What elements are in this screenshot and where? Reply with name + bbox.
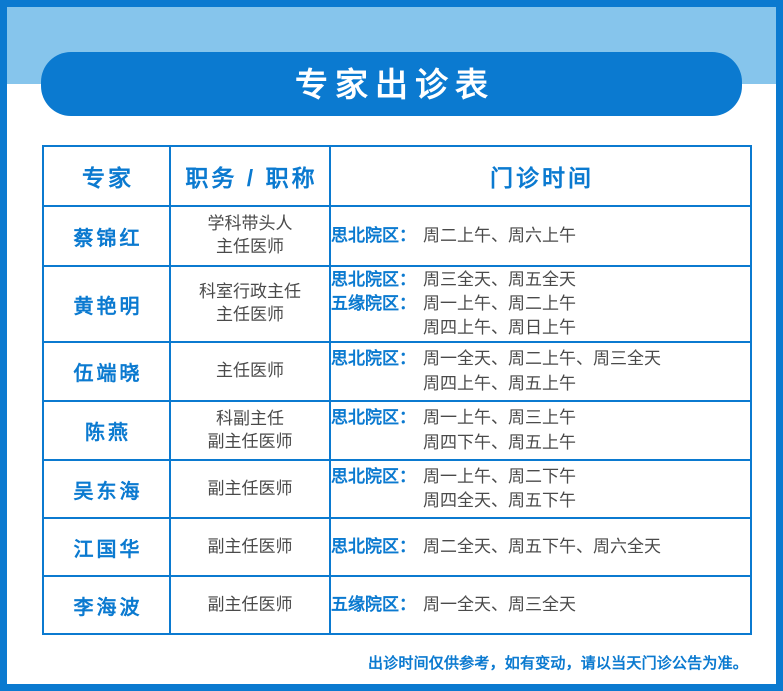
expert-position: 副主任医师 xyxy=(170,576,330,634)
schedule-slots: 周一全天、周二上午、周三全天 xyxy=(423,347,661,371)
clinic-schedule: 思北院区：周一上午、周二下午思北院区：周四全天、周五下午 xyxy=(330,460,751,518)
expert-name: 吴东海 xyxy=(43,460,170,518)
schedule-line: 思北院区：周四上午、周五上午 xyxy=(331,372,750,396)
expert-position: 科副主任 副主任医师 xyxy=(170,401,330,460)
table-row: 吴东海副主任医师思北院区：周一上午、周二下午思北院区：周四全天、周五下午 xyxy=(43,460,751,518)
expert-name: 江国华 xyxy=(43,518,170,576)
schedule-slots: 周四上午、周日上午 xyxy=(423,316,576,340)
schedule-line: 思北院区：周二全天、周五下午、周六全天 xyxy=(331,535,750,559)
schedule-line: 五缘院区：周一上午、周二上午 xyxy=(331,292,750,316)
branch-label: 五缘院区： xyxy=(331,292,423,316)
schedule-table: 专家 职务 / 职称 门诊时间 蔡锦红学科带头人 主任医师思北院区：周二上午、周… xyxy=(42,145,752,635)
schedule-line: 思北院区：周一上午、周三上午 xyxy=(331,406,750,430)
schedule-line: 思北院区：周一上午、周二下午 xyxy=(331,465,750,489)
clinic-schedule: 思北院区：周一全天、周二上午、周三全天思北院区：周四上午、周五上午 xyxy=(330,342,751,401)
branch-label: 思北院区： xyxy=(331,268,423,292)
expert-name: 李海波 xyxy=(43,576,170,634)
column-header-time: 门诊时间 xyxy=(330,146,751,206)
expert-position: 副主任医师 xyxy=(170,460,330,518)
table-row: 陈燕科副主任 副主任医师思北院区：周一上午、周三上午思北院区：周四下午、周五上午 xyxy=(43,401,751,460)
page-title: 专家出诊表 xyxy=(288,68,495,101)
clinic-schedule: 思北院区：周二全天、周五下午、周六全天 xyxy=(330,518,751,576)
branch-label: 思北院区： xyxy=(331,465,423,489)
clinic-schedule: 五缘院区：周一全天、周三全天 xyxy=(330,576,751,634)
table-body: 蔡锦红学科带头人 主任医师思北院区：周二上午、周六上午黄艳明科室行政主任 主任医… xyxy=(43,206,751,634)
branch-label: 五缘院区： xyxy=(331,593,423,617)
table-row: 江国华副主任医师思北院区：周二全天、周五下午、周六全天 xyxy=(43,518,751,576)
expert-name: 伍端晓 xyxy=(43,342,170,401)
expert-position: 主任医师 xyxy=(170,342,330,401)
branch-label: 思北院区： xyxy=(331,535,423,559)
schedule-line: 思北院区：周二上午、周六上午 xyxy=(331,224,750,248)
expert-position: 学科带头人 主任医师 xyxy=(170,206,330,266)
schedule-slots: 周四下午、周五上午 xyxy=(423,431,576,455)
schedule-line: 思北院区：周三全天、周五全天 xyxy=(331,268,750,292)
column-header-position: 职务 / 职称 xyxy=(170,146,330,206)
schedule-line: 思北院区：周一全天、周二上午、周三全天 xyxy=(331,347,750,371)
schedule-slots: 周四上午、周五上午 xyxy=(423,372,576,396)
table-row: 伍端晓主任医师思北院区：周一全天、周二上午、周三全天思北院区：周四上午、周五上午 xyxy=(43,342,751,401)
column-header-name: 专家 xyxy=(43,146,170,206)
clinic-schedule: 思北院区：周三全天、周五全天五缘院区：周一上午、周二上午思北院区：周四上午、周日… xyxy=(330,266,751,342)
schedule-line: 思北院区：周四下午、周五上午 xyxy=(331,431,750,455)
branch-label: 思北院区： xyxy=(331,406,423,430)
clinic-schedule: 思北院区：周一上午、周三上午思北院区：周四下午、周五上午 xyxy=(330,401,751,460)
branch-label: 思北院区： xyxy=(331,347,423,371)
table-row: 蔡锦红学科带头人 主任医师思北院区：周二上午、周六上午 xyxy=(43,206,751,266)
schedule-slots: 周一全天、周三全天 xyxy=(423,593,576,617)
expert-name: 黄艳明 xyxy=(43,266,170,342)
expert-position: 副主任医师 xyxy=(170,518,330,576)
title-banner: 专家出诊表 xyxy=(41,52,742,116)
schedule-slots: 周二全天、周五下午、周六全天 xyxy=(423,535,661,559)
clinic-schedule: 思北院区：周二上午、周六上午 xyxy=(330,206,751,266)
schedule-slots: 周一上午、周三上午 xyxy=(423,406,576,430)
table-header: 专家 职务 / 职称 门诊时间 xyxy=(43,146,751,206)
expert-name: 陈燕 xyxy=(43,401,170,460)
table-row: 李海波副主任医师五缘院区：周一全天、周三全天 xyxy=(43,576,751,634)
expert-position: 科室行政主任 主任医师 xyxy=(170,266,330,342)
table-row: 黄艳明科室行政主任 主任医师思北院区：周三全天、周五全天五缘院区：周一上午、周二… xyxy=(43,266,751,342)
table-header-row: 专家 职务 / 职称 门诊时间 xyxy=(43,146,751,206)
schedule-line: 五缘院区：周一全天、周三全天 xyxy=(331,593,750,617)
schedule-slots: 周二上午、周六上午 xyxy=(423,224,576,248)
disclaimer-note: 出诊时间仅供参考，如有变动，请以当天门诊公告为准。 xyxy=(368,652,748,673)
expert-name: 蔡锦红 xyxy=(43,206,170,266)
branch-label: 思北院区： xyxy=(331,224,423,248)
schedule-slots: 周四全天、周五下午 xyxy=(423,489,576,513)
schedule-line: 思北院区：周四上午、周日上午 xyxy=(331,316,750,340)
schedule-slots: 周一上午、周二上午 xyxy=(423,292,576,316)
schedule-line: 思北院区：周四全天、周五下午 xyxy=(331,489,750,513)
schedule-slots: 周一上午、周二下午 xyxy=(423,465,576,489)
schedule-poster: 专家出诊表 专家 职务 / 职称 门诊时间 蔡锦红学科带头人 主任医师思北院区：… xyxy=(0,0,783,691)
schedule-slots: 周三全天、周五全天 xyxy=(423,268,576,292)
